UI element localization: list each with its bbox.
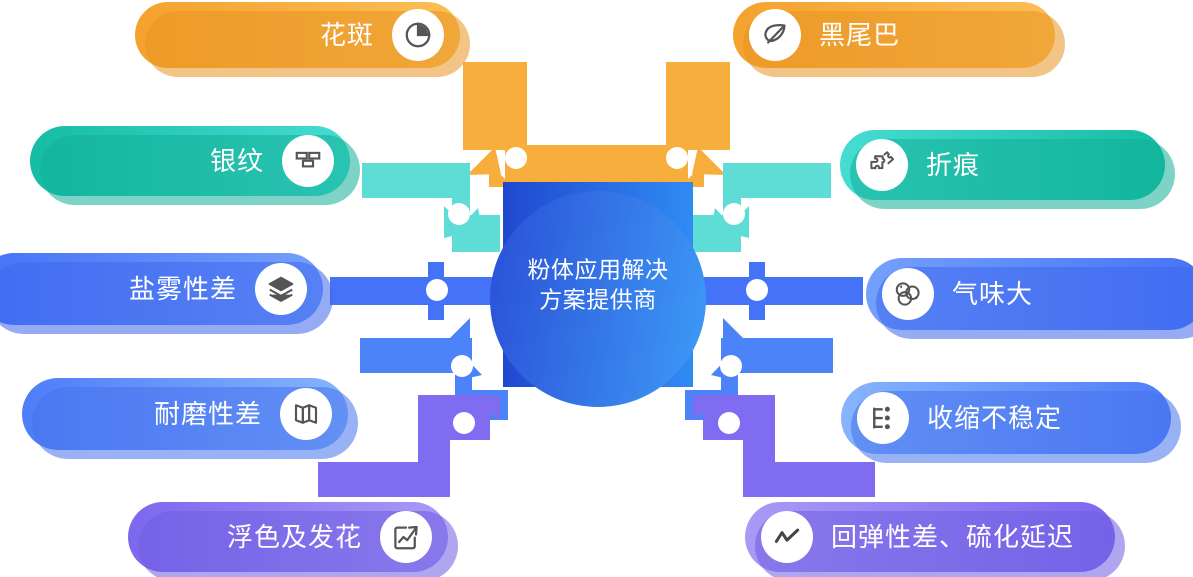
node-right-4[interactable]: 收缩不稳定 <box>841 382 1171 454</box>
connector-right-1 <box>573 62 730 187</box>
node-left-1[interactable]: 花斑 <box>135 2 460 68</box>
connector-dot <box>718 412 740 434</box>
node-right-1[interactable]: 黑尾巴 <box>733 2 1055 68</box>
connector-dot <box>453 412 475 434</box>
brick-wall-icon <box>282 135 334 187</box>
node-left-3[interactable]: 盐雾性差 <box>0 253 323 325</box>
connector-right-3 <box>698 262 863 320</box>
pie-chart-icon <box>392 9 444 61</box>
connector-dot <box>451 355 473 377</box>
connector-dot <box>723 203 745 225</box>
hub-text: 粉体应用解决 方案提供商 <box>483 254 713 315</box>
node-right-3[interactable]: 气味大 <box>866 258 1193 330</box>
node-left-2[interactable]: 银纹 <box>30 126 350 196</box>
node-right-4-label: 收缩不稳定 <box>927 405 1062 431</box>
connector-dot <box>666 147 688 169</box>
node-left-5[interactable]: 浮色及发花 <box>128 502 448 572</box>
connector-dot <box>746 279 768 301</box>
connector-right-2 <box>693 163 831 252</box>
node-left-3-label: 盐雾性差 <box>129 276 237 302</box>
node-left-2-label: 银纹 <box>210 148 264 174</box>
open-book-icon <box>280 388 332 440</box>
hub-text-line2: 方案提供商 <box>483 285 713 315</box>
node-right-5-label: 回弹性差、硫化延迟 <box>831 524 1074 550</box>
sitemap-icon <box>857 392 909 444</box>
connector-left-3 <box>330 262 495 320</box>
connector-dot <box>505 147 527 169</box>
layers-icon <box>255 263 307 315</box>
recycle-icon <box>882 268 934 320</box>
node-left-1-label: 花斑 <box>320 22 374 48</box>
leaf-icon <box>749 9 801 61</box>
node-right-3-label: 气味大 <box>952 281 1033 307</box>
node-right-2-label: 折痕 <box>926 152 980 178</box>
hub-text-line1: 粉体应用解决 <box>483 254 713 284</box>
connector-dot <box>426 279 448 301</box>
node-right-2[interactable]: 折痕 <box>840 130 1165 200</box>
puzzle-piece-icon <box>856 139 908 191</box>
zigzag-line-icon <box>761 511 813 563</box>
node-left-4[interactable]: 耐磨性差 <box>22 378 348 450</box>
center-hub: 粉体应用解决 方案提供商 <box>503 182 693 387</box>
infographic-diagram: 粉体应用解决 方案提供商 花斑 银纹 <box>0 0 1193 577</box>
node-left-4-label: 耐磨性差 <box>154 401 262 427</box>
node-right-1-label: 黑尾巴 <box>819 22 900 48</box>
node-left-5-label: 浮色及发花 <box>227 524 362 550</box>
connector-dot <box>448 203 470 225</box>
node-right-5[interactable]: 回弹性差、硫化延迟 <box>745 502 1115 572</box>
connector-dot <box>720 355 742 377</box>
trend-box-icon <box>380 511 432 563</box>
